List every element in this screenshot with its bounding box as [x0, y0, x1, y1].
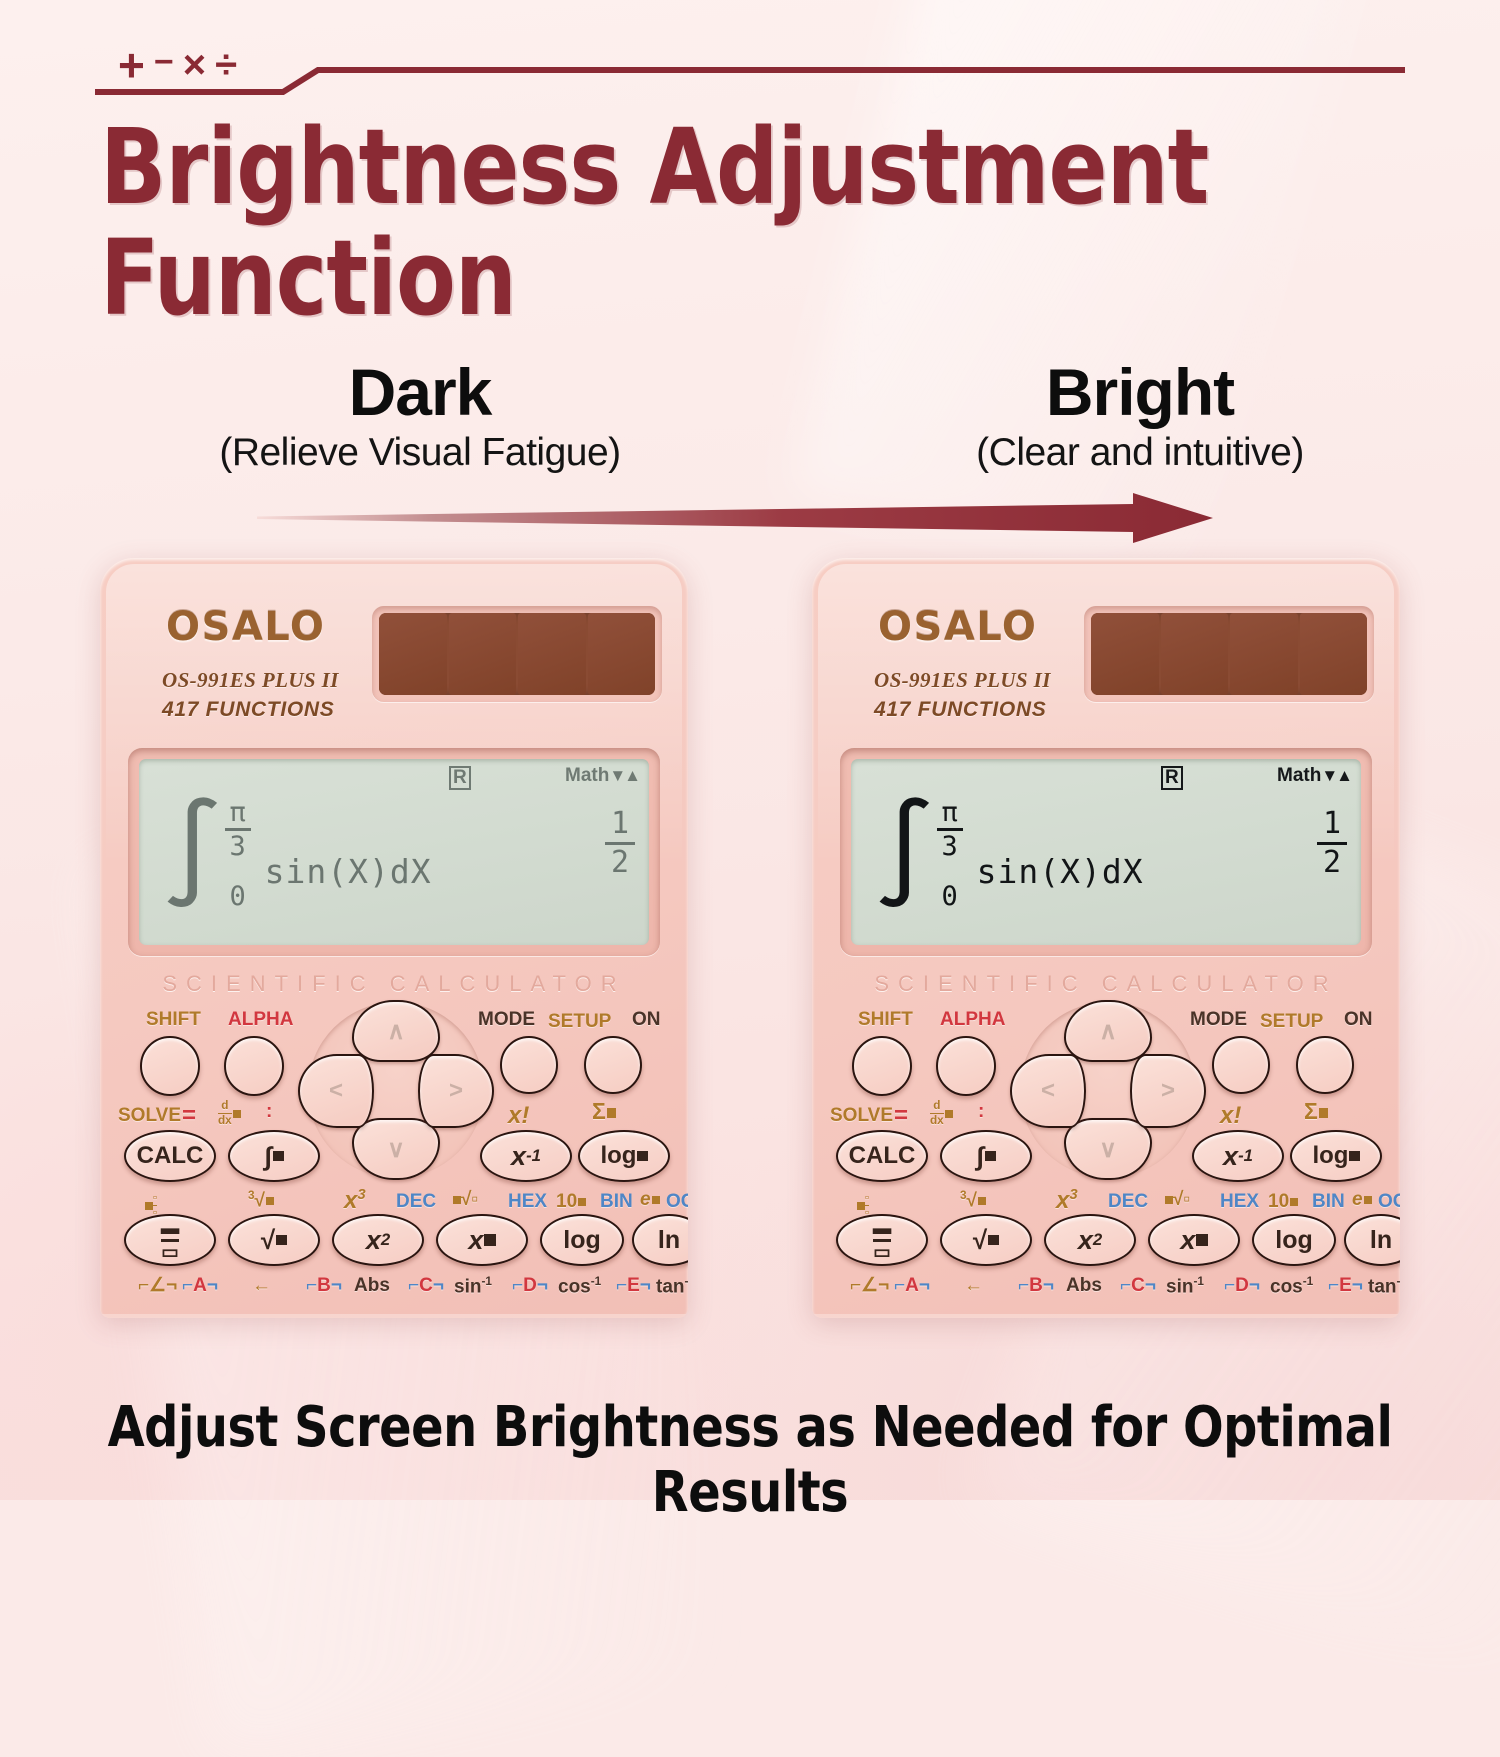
label-factorial: x! [1220, 1104, 1241, 1128]
arrow-down-button[interactable]: ∨ [1064, 1118, 1152, 1180]
label-on: ON [1344, 1010, 1373, 1029]
integral-symbol: ∫ [161, 812, 224, 893]
arrow-down-icon: ∨ [387, 1135, 405, 1164]
lcd-bezel: R Math ▼▲ ∫ π 3 0 sin(X)dX 1 2 [128, 748, 660, 956]
log-button[interactable]: log [1252, 1214, 1336, 1266]
calculator-branding: OSALO OS-991ES PLUS II 417 FUNCTIONS [812, 558, 1400, 723]
operator-icons: + − × ÷ [118, 42, 237, 88]
lower-limit: 0 [941, 883, 957, 910]
column-label-dark: Dark (Relieve Visual Fatigue) [140, 358, 700, 476]
label-mem-b: ⌐B¬ [306, 1276, 342, 1295]
shift-button[interactable] [852, 1036, 912, 1096]
indicator-math-label: Math [565, 766, 609, 785]
sqrt-button[interactable]: √ [228, 1214, 320, 1266]
column-title: Bright [860, 358, 1420, 427]
label-sigma: Σ [1304, 1100, 1328, 1123]
label-mem-b: ⌐B¬ [1018, 1276, 1054, 1295]
column-label-bright: Bright (Clear and intuitive) [860, 358, 1420, 476]
x-inverse-button[interactable]: x-1 [480, 1130, 572, 1182]
arrow-right-icon: > [449, 1077, 463, 1105]
label-shift: SHIFT [858, 1010, 913, 1029]
dpad: ∧ ∨ < > [1020, 1002, 1196, 1178]
indicator-r: R [1161, 766, 1183, 790]
label-oct: OCT [1378, 1192, 1400, 1211]
label-mem-c: ⌐C¬ [408, 1276, 444, 1295]
times-icon: × [183, 45, 206, 85]
indicator-arrows: ▼▲ [1321, 767, 1351, 784]
calculator-bright: OSALO OS-991ES PLUS II 417 FUNCTIONS R M… [812, 558, 1400, 1318]
arrow-right-button[interactable]: > [1130, 1054, 1206, 1128]
calc-button[interactable]: CALC [124, 1130, 216, 1182]
indicator-r: R [449, 766, 471, 790]
label-derivative: ddx [218, 1100, 241, 1127]
arrow-up-button[interactable]: ∧ [352, 1000, 440, 1062]
calc-button[interactable]: CALC [836, 1130, 928, 1182]
calculator-dark: OSALO OS-991ES PLUS II 417 FUNCTIONS R M… [100, 558, 688, 1318]
label-e-power: e [640, 1190, 660, 1209]
label-abs: Abs [354, 1276, 390, 1295]
label-angle: ⌐∠¬ [850, 1276, 889, 1295]
solar-panel [372, 606, 662, 702]
integral-button[interactable]: ∫ [940, 1130, 1032, 1182]
upper-limit-numerator: π [941, 799, 957, 826]
brand-logo: OSALO [166, 604, 325, 650]
result-numerator: 1 [1323, 809, 1341, 839]
label-sigma: Σ [592, 1100, 616, 1123]
solar-panel [1084, 606, 1374, 702]
lower-limit: 0 [229, 883, 245, 910]
label-equals: = [182, 1104, 196, 1128]
arrow-left-button[interactable]: < [1010, 1054, 1086, 1128]
label-mem-e: ⌐E¬ [616, 1276, 651, 1295]
label-asin: sin-1 [1166, 1276, 1204, 1296]
lcd-expression: ∫ π 3 0 sin(X)dX [161, 799, 432, 910]
label-mem-d: ⌐D¬ [1224, 1276, 1260, 1295]
alpha-button[interactable] [936, 1036, 996, 1096]
label-e-power: e [1352, 1190, 1372, 1209]
arrow-left-icon: < [1041, 1077, 1055, 1105]
label-alpha: ALPHA [228, 1010, 293, 1029]
indicator-math: Math ▼▲ [565, 766, 639, 785]
integral-limits: π 3 0 [937, 799, 963, 910]
brand-logo: OSALO [878, 604, 1037, 650]
functions-count: 417 FUNCTIONS [874, 698, 1046, 722]
label-x-cubed: x3 [1056, 1188, 1078, 1213]
fraction-button[interactable]: ▬▭ [836, 1214, 928, 1266]
arrow-left-button[interactable]: < [298, 1054, 374, 1128]
label-asin: sin-1 [454, 1276, 492, 1296]
result-denominator: 2 [1323, 848, 1341, 878]
integral-limits: π 3 0 [225, 799, 251, 910]
indicator-math: Math ▼▲ [1277, 766, 1351, 785]
mode-setup-button[interactable] [1212, 1036, 1270, 1094]
x-power-button[interactable]: x [436, 1214, 528, 1266]
brightness-arrow [255, 492, 1215, 544]
column-title: Dark [140, 358, 700, 427]
label-hex: HEX [1220, 1192, 1259, 1211]
arrow-up-button[interactable]: ∧ [1064, 1000, 1152, 1062]
label-mem-e: ⌐E¬ [1328, 1276, 1363, 1295]
label-oct: OCT [666, 1192, 688, 1211]
label-mem-a: ⌐A¬ [894, 1276, 930, 1295]
label-mem-d: ⌐D¬ [512, 1276, 548, 1295]
model-number: OS-991ES PLUS II [874, 668, 1051, 693]
lcd-bezel: R Math ▼▲ ∫ π 3 0 sin(X)dX 1 2 [840, 748, 1372, 956]
label-nth-root: √▫ [452, 1190, 478, 1209]
label-x-cubed: x3 [344, 1188, 366, 1213]
label-on: ON [632, 1010, 661, 1029]
lcd-result: 1 2 [605, 809, 635, 878]
log-base-button[interactable]: log [578, 1130, 670, 1182]
mode-setup-button[interactable] [500, 1036, 558, 1094]
result-numerator: 1 [611, 809, 629, 839]
keypad: SHIFT ALPHA MODE SETUP ON ∧ ∨ < > SOLVE … [100, 1010, 688, 1318]
dpad: ∧ ∨ < > [308, 1002, 484, 1178]
log-base-button[interactable]: log [1290, 1130, 1382, 1182]
label-mem-c: ⌐C¬ [1120, 1276, 1156, 1295]
integral-button[interactable]: ∫ [228, 1130, 320, 1182]
label-dec: DEC [396, 1192, 436, 1211]
fraction-button[interactable]: ▬▭ [124, 1214, 216, 1266]
label-acos: cos-1 [558, 1276, 601, 1296]
arrow-up-icon: ∧ [387, 1017, 405, 1046]
divide-icon: ÷ [215, 45, 237, 85]
lcd-screen: R Math ▼▲ ∫ π 3 0 sin(X)dX 1 2 [851, 759, 1361, 945]
label-nth-root: √▫ [1164, 1190, 1190, 1209]
label-back-arrow: ← [964, 1276, 983, 1295]
arrow-right-button[interactable]: > [418, 1054, 494, 1128]
label-back-arrow: ← [252, 1276, 271, 1295]
lcd-expression: ∫ π 3 0 sin(X)dX [873, 799, 1144, 910]
lcd-screen: R Math ▼▲ ∫ π 3 0 sin(X)dX 1 2 [139, 759, 649, 945]
ln-button[interactable]: ln [1344, 1214, 1400, 1266]
label-shift: SHIFT [146, 1010, 201, 1029]
alpha-button[interactable] [224, 1036, 284, 1096]
bottom-caption: Adjust Screen Brightness as Needed for O… [38, 1395, 1463, 1525]
label-setup: SETUP [548, 1012, 611, 1031]
label-hex: HEX [508, 1192, 547, 1211]
arrow-up-icon: ∧ [1099, 1017, 1117, 1046]
label-acos: cos-1 [1270, 1276, 1313, 1296]
label-angle: ⌐∠¬ [138, 1276, 177, 1295]
calculator-branding: OSALO OS-991ES PLUS II 417 FUNCTIONS [100, 558, 688, 723]
label-cube-root: 3√ [248, 1190, 274, 1210]
x-inverse-button[interactable]: x-1 [1192, 1130, 1284, 1182]
label-ten-power: 10 [1268, 1192, 1298, 1211]
on-button[interactable] [584, 1036, 642, 1094]
arrow-down-button[interactable]: ∨ [352, 1118, 440, 1180]
functions-count: 417 FUNCTIONS [162, 698, 334, 722]
upper-limit-denominator: 3 [941, 833, 957, 861]
label-dec: DEC [1108, 1192, 1148, 1211]
arrow-down-icon: ∨ [1099, 1135, 1117, 1164]
arrow-right-icon: > [1161, 1077, 1175, 1105]
column-subtitle: (Clear and intuitive) [860, 431, 1420, 476]
result-denominator: 2 [611, 848, 629, 878]
label-mem-a: ⌐A¬ [182, 1276, 218, 1295]
label-solve: SOLVE [830, 1106, 893, 1125]
upper-limit-numerator: π [229, 799, 245, 826]
integrand-expression: sin(X)dX [977, 852, 1144, 891]
column-subtitle: (Relieve Visual Fatigue) [140, 431, 700, 476]
x-power-button[interactable]: x [1148, 1214, 1240, 1266]
label-abs: Abs [1066, 1276, 1102, 1295]
label-derivative: ddx [930, 1100, 953, 1127]
label-alpha: ALPHA [940, 1010, 1005, 1029]
minus-icon: − [154, 45, 174, 79]
log-button[interactable]: log [540, 1214, 624, 1266]
label-atan: tan-1 [1368, 1276, 1400, 1296]
plus-icon: + [118, 42, 145, 88]
label-bin: BIN [1312, 1192, 1345, 1211]
page-title: Brightness Adjustment Function [100, 112, 1263, 335]
label-mode: MODE [478, 1010, 535, 1029]
label-equals: = [894, 1104, 908, 1128]
ln-button[interactable]: ln [632, 1214, 688, 1266]
lcd-result: 1 2 [1317, 809, 1347, 878]
label-colon: : [266, 1102, 272, 1121]
x-squared-button[interactable]: x2 [332, 1214, 424, 1266]
label-colon: : [978, 1102, 984, 1121]
upper-limit-denominator: 3 [229, 833, 245, 861]
integral-symbol: ∫ [873, 812, 936, 893]
label-setup: SETUP [1260, 1012, 1323, 1031]
label-factorial: x! [508, 1104, 529, 1128]
keypad: SHIFT ALPHA MODE SETUP ON ∧ ∨ < > SOLVE … [812, 1010, 1400, 1318]
integrand-expression: sin(X)dX [265, 852, 432, 891]
label-bin: BIN [600, 1192, 633, 1211]
on-button[interactable] [1296, 1036, 1354, 1094]
indicator-math-label: Math [1277, 766, 1321, 785]
label-atan: tan-1 [656, 1276, 688, 1296]
label-mode: MODE [1190, 1010, 1247, 1029]
label-solve: SOLVE [118, 1106, 181, 1125]
label-ten-power: 10 [556, 1192, 586, 1211]
model-number: OS-991ES PLUS II [162, 668, 339, 693]
x-squared-button[interactable]: x2 [1044, 1214, 1136, 1266]
arrow-left-icon: < [329, 1077, 343, 1105]
label-cube-root: 3√ [960, 1190, 986, 1210]
shift-button[interactable] [140, 1036, 200, 1096]
indicator-arrows: ▼▲ [609, 767, 639, 784]
sqrt-button[interactable]: √ [940, 1214, 1032, 1266]
